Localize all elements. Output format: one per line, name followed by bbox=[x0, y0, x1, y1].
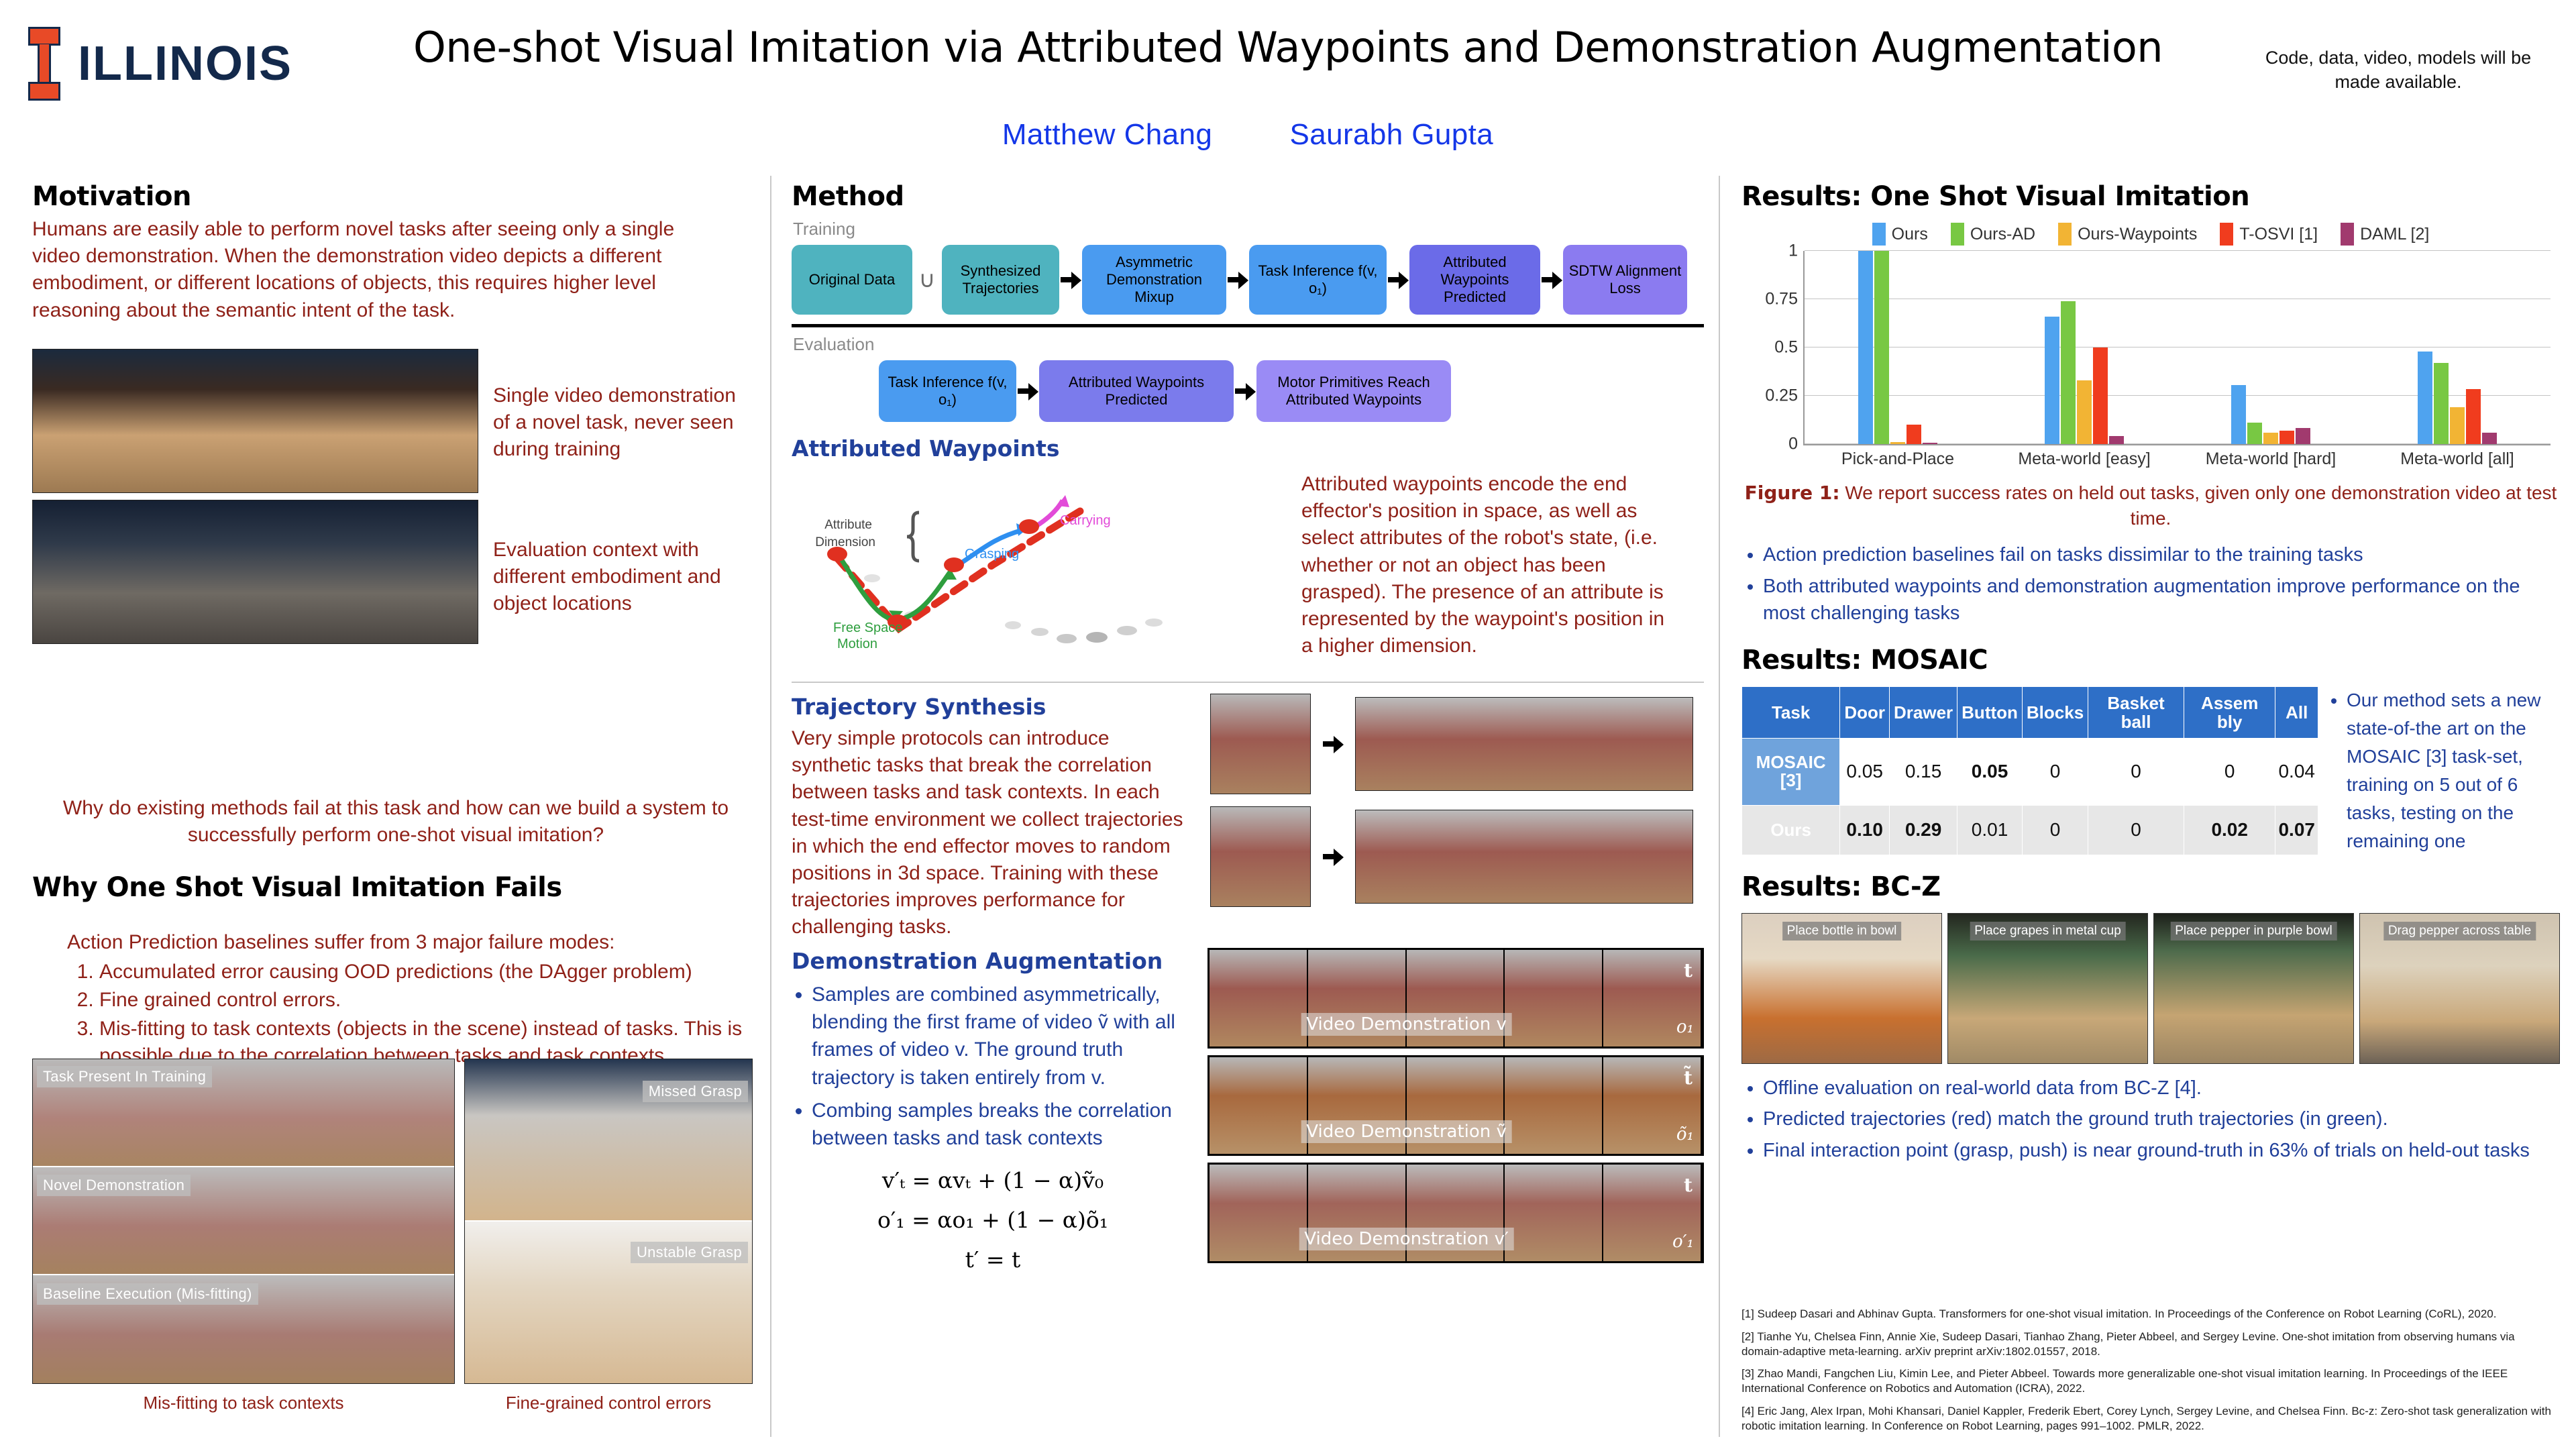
arrow-right-icon bbox=[1226, 271, 1249, 288]
y-axis-tick-label: 0 bbox=[1788, 435, 1798, 454]
x-axis-tick-label: Meta-world [easy] bbox=[1991, 449, 2178, 469]
table-cell: 0.10 bbox=[1840, 805, 1890, 855]
x-axis-tick-label: Pick-and-Place bbox=[1805, 449, 1991, 469]
bar bbox=[2263, 433, 2278, 444]
table-cell: 0 bbox=[2088, 738, 2184, 805]
misfitting-figure: Task Present In Training Novel Demonstra… bbox=[32, 1059, 455, 1384]
fine-grained-caption: Fine-grained control errors bbox=[464, 1393, 753, 1413]
image-label: Missed Grasp bbox=[643, 1081, 748, 1102]
bcz-caption: Place pepper in purple bowl bbox=[2170, 922, 2337, 941]
bar-group: Meta-world [all] bbox=[2364, 251, 2551, 444]
trajectory-tag: t̃ bbox=[1684, 1067, 1693, 1089]
bar bbox=[1907, 425, 1921, 444]
table-cell: 0.29 bbox=[1890, 805, 1957, 855]
demo-video-image bbox=[32, 349, 478, 493]
video-frame bbox=[1505, 1057, 1603, 1154]
arrow-right-icon bbox=[1322, 735, 1344, 753]
flow-box: Motor Primitives Reach Attributed Waypoi… bbox=[1256, 360, 1451, 422]
video-strip-caption: Video Demonstration v bbox=[1301, 1013, 1512, 1036]
bar bbox=[2296, 428, 2310, 444]
flow-box: Asymmetric Demonstration Mixup bbox=[1082, 245, 1226, 315]
observation-tag: o′₁ bbox=[1672, 1232, 1694, 1252]
illinois-logo: ILLINOIS bbox=[28, 27, 292, 101]
table-cell: 0.04 bbox=[2275, 738, 2318, 805]
table-column-header: Button bbox=[1957, 686, 2023, 738]
table-column-header: Basket ball bbox=[2088, 686, 2184, 738]
evaluation-flowchart: Task Inference f(v, o₁)Attributed Waypoi… bbox=[792, 360, 1704, 422]
equation-v: v′ₜ = αvₜ + (1 − α)ṽ₀ bbox=[792, 1167, 1194, 1193]
svg-text:Attribute: Attribute bbox=[824, 518, 872, 532]
y-axis-tick-label: 1 bbox=[1788, 241, 1798, 261]
list-item: Final interaction point (grasp, push) is… bbox=[1763, 1137, 2560, 1165]
synthesis-input-image bbox=[1210, 694, 1311, 794]
video-frame: to′₁ bbox=[1603, 1165, 1702, 1261]
legend-swatch bbox=[1951, 223, 1964, 246]
flow-box: Task Inference f(v, o₁) bbox=[879, 360, 1016, 422]
bcz-image: Place grapes in metal cup bbox=[1947, 913, 2148, 1064]
bcz-image-row: Place bottle in bowl Place grapes in met… bbox=[1741, 913, 2560, 1064]
video-frame bbox=[1210, 950, 1308, 1046]
university-wordmark: ILLINOIS bbox=[78, 40, 292, 88]
list-item: Action prediction baselines fail on task… bbox=[1763, 541, 2560, 569]
table-cell: 0.02 bbox=[2184, 805, 2275, 855]
bcz-caption: Place grapes in metal cup bbox=[1970, 922, 2126, 941]
bcz-caption: Place bottle in bowl bbox=[1782, 922, 1902, 941]
left-column: Motivation Humans are easily able to per… bbox=[32, 181, 757, 333]
legend-item: Ours bbox=[1872, 223, 1928, 246]
column-divider-left bbox=[770, 176, 771, 1437]
legend-label: Ours-AD bbox=[1970, 225, 2035, 244]
video-strip: t̃õ₁Video Demonstration ṽ bbox=[1207, 1055, 1704, 1156]
legend-item: T-OSVI [1] bbox=[2220, 223, 2318, 246]
results-osvi-heading: Results: One Shot Visual Imitation bbox=[1741, 181, 2560, 212]
video-strip: to′₁Video Demonstration v′ bbox=[1207, 1163, 1704, 1263]
table-column-header: Drawer bbox=[1890, 686, 1957, 738]
list-item: Predicted trajectories (red) match the g… bbox=[1763, 1106, 2560, 1133]
demonstration-augmentation-section: Demonstration Augmentation Samples are c… bbox=[792, 948, 1704, 1286]
table-cell: 0.05 bbox=[1957, 738, 2023, 805]
observation-tag: õ₁ bbox=[1676, 1124, 1694, 1144]
x-axis-tick-label: Meta-world [all] bbox=[2364, 449, 2551, 469]
image-label: Novel Demonstration bbox=[37, 1175, 191, 1196]
reference-item: [2] Tianhe Yu, Chelsea Finn, Annie Xie, … bbox=[1741, 1330, 2557, 1359]
eval-context-image bbox=[32, 500, 478, 644]
attributed-waypoints-section: Attribute Dimension Free Space Motion Gr… bbox=[792, 471, 1704, 672]
reference-item: [1] Sudeep Dasari and Abhinav Gupta. Tra… bbox=[1741, 1307, 2557, 1322]
bar bbox=[2466, 389, 2481, 444]
video-frame: to₁ bbox=[1603, 950, 1702, 1046]
success-rate-bar-chart: 00.250.50.751Pick-and-PlaceMeta-world [e… bbox=[1803, 251, 2551, 445]
demo-video-caption: Single video demonstration of a novel ta… bbox=[493, 382, 761, 464]
bcz-image: Place bottle in bowl bbox=[1741, 913, 1942, 1064]
table-row: Ours0.100.290.01000.020.07 bbox=[1742, 805, 2318, 855]
table-row-header: MOSAIC [3] bbox=[1742, 738, 1840, 805]
bcz-image: Place pepper in purple bowl bbox=[2153, 913, 2354, 1064]
list-item: Offline evaluation on real-world data fr… bbox=[1763, 1075, 2560, 1102]
training-flow-label: Training bbox=[793, 219, 1704, 239]
motivation-paragraph: Humans are easily able to perform novel … bbox=[32, 216, 723, 324]
arrow-right-icon bbox=[1322, 848, 1344, 865]
bar-group: Pick-and-Place bbox=[1805, 251, 1991, 444]
bar bbox=[2450, 407, 2465, 444]
waypoints-svg: Attribute Dimension Free Space Motion Gr… bbox=[792, 471, 1288, 672]
svg-text:Free Space: Free Space bbox=[833, 621, 902, 635]
bar bbox=[2418, 352, 2432, 444]
arrow-right-icon bbox=[1540, 271, 1563, 288]
bar bbox=[2061, 301, 2076, 444]
table-column-header: Blocks bbox=[2022, 686, 2088, 738]
chart-legend: OursOurs-ADOurs-WaypointsT-OSVI [1]DAML … bbox=[1741, 223, 2560, 246]
legend-swatch bbox=[2058, 223, 2072, 246]
bar bbox=[2077, 380, 2092, 444]
legend-item: Ours-AD bbox=[1951, 223, 2035, 246]
observation-tag: o₁ bbox=[1676, 1017, 1694, 1037]
training-flowchart: Original Data∪Synthesized TrajectoriesAs… bbox=[792, 245, 1704, 315]
table-cell: 0 bbox=[2088, 805, 2184, 855]
bar bbox=[2482, 433, 2497, 444]
flow-divider bbox=[792, 324, 1704, 327]
trajectory-synthesis-section: Trajectory Synthesis Very simple protoco… bbox=[792, 694, 1704, 941]
arrow-right-icon bbox=[1059, 271, 1082, 288]
bcz-image: Drag pepper across table bbox=[2359, 913, 2560, 1064]
augmentation-equations: v′ₜ = αvₜ + (1 − α)ṽ₀ o′₁ = αo₁ + (1 − α… bbox=[792, 1167, 1194, 1273]
table-column-header: Door bbox=[1840, 686, 1890, 738]
mosaic-results: TaskDoorDrawerButtonBlocksBasket ballAss… bbox=[1741, 686, 2560, 855]
why-fails-heading: Why One Shot Visual Imitation Fails bbox=[32, 872, 562, 903]
code-availability-note: Code, data, video, models will be made a… bbox=[2241, 46, 2556, 95]
svg-text:Grasping: Grasping bbox=[965, 547, 1019, 561]
video-strip-caption: Video Demonstration v′ bbox=[1299, 1228, 1514, 1250]
arrow-right-icon bbox=[1016, 382, 1039, 400]
section-divider bbox=[792, 682, 1704, 683]
x-axis-tick-label: Meta-world [hard] bbox=[2178, 449, 2364, 469]
video-strip: to₁Video Demonstration v bbox=[1207, 948, 1704, 1049]
results-bcz-heading: Results: BC-Z bbox=[1741, 871, 2560, 902]
bar bbox=[2093, 347, 2108, 444]
eval-context-caption: Evaluation context with different embodi… bbox=[493, 537, 768, 618]
trajectory-tag: t bbox=[1684, 1174, 1693, 1196]
list-item: Combing samples breaks the correlation b… bbox=[812, 1097, 1194, 1152]
video-frame bbox=[1210, 1057, 1308, 1154]
bar-group: Meta-world [hard] bbox=[2178, 251, 2364, 444]
misfitting-caption: Mis-fitting to task contexts bbox=[32, 1393, 455, 1413]
bar bbox=[1923, 443, 1937, 444]
motivation-question: Why do existing methods fail at this tas… bbox=[40, 795, 751, 849]
table-cell: 0 bbox=[2022, 805, 2088, 855]
column-divider-right bbox=[1719, 176, 1720, 1437]
bar bbox=[1890, 442, 1905, 444]
synthesis-example-2 bbox=[1210, 806, 1693, 907]
page-title: One-shot Visual Imitation via Attributed… bbox=[382, 25, 2194, 69]
attributed-waypoints-diagram: Attribute Dimension Free Space Motion Gr… bbox=[792, 471, 1288, 672]
y-axis-tick-label: 0.5 bbox=[1774, 338, 1798, 358]
motivation-heading: Motivation bbox=[32, 181, 757, 212]
table-cell: 0 bbox=[2184, 738, 2275, 805]
table-column-header: Assem bly bbox=[2184, 686, 2275, 738]
union-symbol: ∪ bbox=[912, 266, 942, 293]
list-item: Samples are combined asymmetrically, ble… bbox=[812, 981, 1194, 1092]
legend-label: Ours bbox=[1892, 225, 1928, 244]
mosaic-table: TaskDoorDrawerButtonBlocksBasket ballAss… bbox=[1741, 686, 2318, 855]
table-header-row: TaskDoorDrawerButtonBlocksBasket ballAss… bbox=[1742, 686, 2318, 738]
flow-box: Attributed Waypoints Predicted bbox=[1409, 245, 1540, 315]
arrow-right-icon bbox=[1387, 271, 1409, 288]
flow-box: Task Inference f(v, o₁) bbox=[1249, 245, 1387, 315]
image-label: Unstable Grasp bbox=[631, 1242, 748, 1263]
svg-text:Motion: Motion bbox=[837, 637, 877, 651]
author-list: Matthew Chang Saurabh Gupta bbox=[765, 118, 1731, 152]
flow-box: SDTW Alignment Loss bbox=[1563, 245, 1687, 315]
mosaic-note: Our method sets a new state-of-the art o… bbox=[2330, 686, 2552, 855]
legend-label: Ours-Waypoints bbox=[2078, 225, 2197, 244]
table-cell: 0.01 bbox=[1957, 805, 2023, 855]
synthesis-example-1 bbox=[1210, 694, 1693, 794]
bar bbox=[2247, 423, 2262, 444]
method-heading: Method bbox=[792, 181, 1704, 212]
synthesis-input-image bbox=[1210, 806, 1311, 907]
results-bcz-bullets: Offline evaluation on real-world data fr… bbox=[1741, 1075, 2560, 1165]
video-frame bbox=[1505, 950, 1603, 1046]
list-item: Accumulated error causing OOD prediction… bbox=[99, 959, 758, 985]
synthesis-output-images bbox=[1355, 697, 1693, 791]
video-strip-caption: Video Demonstration ṽ bbox=[1301, 1120, 1512, 1143]
legend-item: DAML [2] bbox=[2341, 223, 2429, 246]
trajectory-tag: t bbox=[1684, 959, 1693, 981]
flow-box: Synthesized Trajectories bbox=[942, 245, 1059, 315]
bcz-caption: Drag pepper across table bbox=[2383, 922, 2536, 941]
table-column-header: All bbox=[2275, 686, 2318, 738]
equation-o: o′₁ = αo₁ + (1 − α)õ₁ bbox=[792, 1207, 1194, 1233]
right-column: Results: One Shot Visual Imitation OursO… bbox=[1741, 181, 2560, 1169]
attributed-waypoints-heading: Attributed Waypoints bbox=[792, 435, 1704, 462]
y-axis-tick-label: 0.25 bbox=[1765, 386, 1798, 406]
author-name-1: Matthew Chang bbox=[1002, 118, 1212, 152]
video-frame bbox=[1505, 1165, 1603, 1261]
video-demonstration-strips: to₁Video Demonstration vt̃õ₁Video Demons… bbox=[1207, 948, 1704, 1286]
synthesis-output-images bbox=[1355, 810, 1693, 904]
table-row-header: Ours bbox=[1742, 805, 1840, 855]
figure-caption-label: Figure 1: bbox=[1745, 482, 1840, 504]
middle-column: Method Training Original Data∪Synthesize… bbox=[792, 181, 1704, 1286]
video-frame: t̃õ₁ bbox=[1603, 1057, 1702, 1154]
bar bbox=[1858, 251, 1873, 444]
flow-box: Original Data bbox=[792, 245, 912, 315]
list-item: Both attributed waypoints and demonstrat… bbox=[1763, 573, 2560, 627]
trajectory-synthesis-text: Very simple protocols can introduce synt… bbox=[792, 725, 1194, 941]
fine-grained-errors-figure: Missed Grasp Unstable Grasp bbox=[464, 1059, 753, 1384]
svg-text:Dimension: Dimension bbox=[815, 535, 875, 549]
bar bbox=[2231, 385, 2246, 444]
flow-box: Attributed Waypoints Predicted bbox=[1039, 360, 1234, 422]
demo-augmentation-bullets: Samples are combined asymmetrically, ble… bbox=[812, 981, 1194, 1152]
list-item: Fine grained control errors. bbox=[99, 987, 758, 1014]
bar bbox=[1874, 251, 1889, 444]
table-cell: 0.05 bbox=[1840, 738, 1890, 805]
legend-swatch bbox=[1872, 223, 1886, 246]
trajectory-synthesis-heading: Trajectory Synthesis bbox=[792, 694, 1194, 720]
image-label: Baseline Execution (Mis-fitting) bbox=[37, 1283, 258, 1305]
table-cell: 0.07 bbox=[2275, 805, 2318, 855]
bar-group: Meta-world [easy] bbox=[1991, 251, 2178, 444]
svg-text:Carrying: Carrying bbox=[1060, 513, 1111, 528]
table-row: MOSAIC [3]0.050.150.050000.04 bbox=[1742, 738, 2318, 805]
block-i-icon bbox=[28, 27, 60, 101]
equation-t: t′ = t bbox=[792, 1246, 1194, 1273]
legend-swatch bbox=[2220, 223, 2233, 246]
reference-item: [4] Eric Jang, Alex Irpan, Mohi Khansari… bbox=[1741, 1404, 2557, 1434]
figure-caption-text: We report success rates on held out task… bbox=[1845, 482, 2557, 529]
attributed-waypoints-text: Attributed waypoints encode the end effe… bbox=[1301, 471, 1677, 672]
results-osvi-bullets: Action prediction baselines fail on task… bbox=[1741, 541, 2560, 627]
legend-label: DAML [2] bbox=[2360, 225, 2429, 244]
references-list: [1] Sudeep Dasari and Abhinav Gupta. Tra… bbox=[1741, 1307, 2557, 1441]
failure-modes-list: Action Prediction baselines suffer from … bbox=[67, 929, 758, 1071]
legend-item: Ours-Waypoints bbox=[2058, 223, 2197, 246]
list-item: Our method sets a new state-of-the art o… bbox=[2347, 686, 2552, 855]
table-cell: 0 bbox=[2022, 738, 2088, 805]
bar bbox=[2434, 363, 2449, 444]
image-label: Task Present In Training bbox=[37, 1066, 212, 1087]
y-axis-tick-label: 0.75 bbox=[1765, 290, 1798, 309]
legend-swatch bbox=[2341, 223, 2354, 246]
bar bbox=[2045, 317, 2059, 444]
evaluation-flow-label: Evaluation bbox=[793, 334, 1704, 355]
bar-groups: Pick-and-PlaceMeta-world [easy]Meta-worl… bbox=[1805, 251, 2551, 444]
results-mosaic-heading: Results: MOSAIC bbox=[1741, 645, 2560, 676]
bar bbox=[2109, 436, 2124, 444]
failure-modes-intro: Action Prediction baselines suffer from … bbox=[67, 929, 758, 956]
legend-label: T-OSVI [1] bbox=[2239, 225, 2318, 244]
reference-item: [3] Zhao Mandi, Fangchen Liu, Kimin Lee,… bbox=[1741, 1366, 2557, 1396]
author-name-2: Saurabh Gupta bbox=[1289, 118, 1493, 152]
demo-augmentation-heading: Demonstration Augmentation bbox=[792, 948, 1194, 974]
poster-root: ILLINOIS One-shot Visual Imitation via A… bbox=[0, 0, 2576, 1449]
arrow-right-icon bbox=[1234, 382, 1256, 400]
figure-caption: Figure 1: We report success rates on hel… bbox=[1741, 480, 2560, 531]
video-frame bbox=[1210, 1165, 1308, 1261]
table-column-header: Task bbox=[1742, 686, 1840, 738]
bar bbox=[2279, 431, 2294, 444]
table-cell: 0.15 bbox=[1890, 738, 1957, 805]
